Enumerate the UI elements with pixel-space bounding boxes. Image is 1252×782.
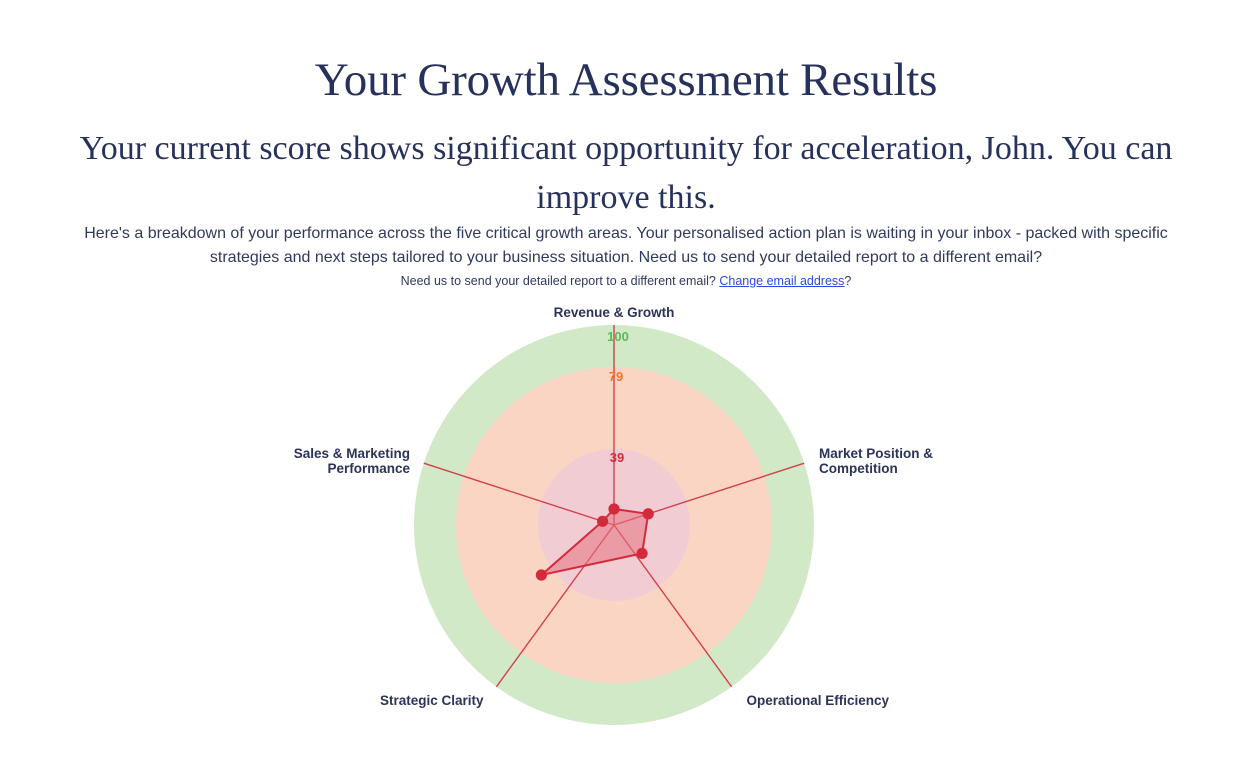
results-page: Your Growth Assessment Results Your curr…: [0, 0, 1252, 782]
point-operational-efficiency[interactable]: [637, 548, 648, 559]
tick-label-79: 79: [609, 369, 623, 384]
point-market-position[interactable]: [643, 508, 654, 519]
axis-label-strategic-clarity: Strategic Clarity: [380, 693, 484, 708]
page-title: Your Growth Assessment Results: [0, 49, 1252, 111]
radar-chart-svg: 100 79 39 Revenue & Growth Market Positi…: [0, 296, 1252, 782]
axis-label-sales-marketing-line2: Performance: [327, 461, 410, 476]
intro-paragraph: Here's a breakdown of your performance a…: [55, 222, 1197, 270]
point-revenue-growth[interactable]: [608, 503, 619, 514]
page-subtitle: Your current score shows significant opp…: [60, 124, 1192, 222]
change-email-suffix: ?: [844, 274, 851, 288]
tick-label-39: 39: [610, 450, 624, 465]
tick-label-100: 100: [607, 329, 629, 344]
point-sales-marketing[interactable]: [597, 516, 608, 527]
change-email-link[interactable]: Change email address: [719, 274, 844, 288]
axis-label-sales-marketing-line1: Sales & Marketing: [294, 446, 410, 461]
axis-label-market-position-line2: Competition: [819, 461, 898, 476]
change-email-line: Need us to send your detailed report to …: [0, 273, 1252, 289]
axis-label-revenue-growth: Revenue & Growth: [554, 305, 675, 320]
axis-label-operational-efficiency: Operational Efficiency: [746, 693, 889, 708]
axis-label-market-position-line1: Market Position &: [819, 446, 933, 461]
point-strategic-clarity[interactable]: [536, 569, 547, 580]
radar-chart: 100 79 39 Revenue & Growth Market Positi…: [0, 296, 1252, 782]
change-email-prompt: Need us to send your detailed report to …: [401, 274, 720, 288]
